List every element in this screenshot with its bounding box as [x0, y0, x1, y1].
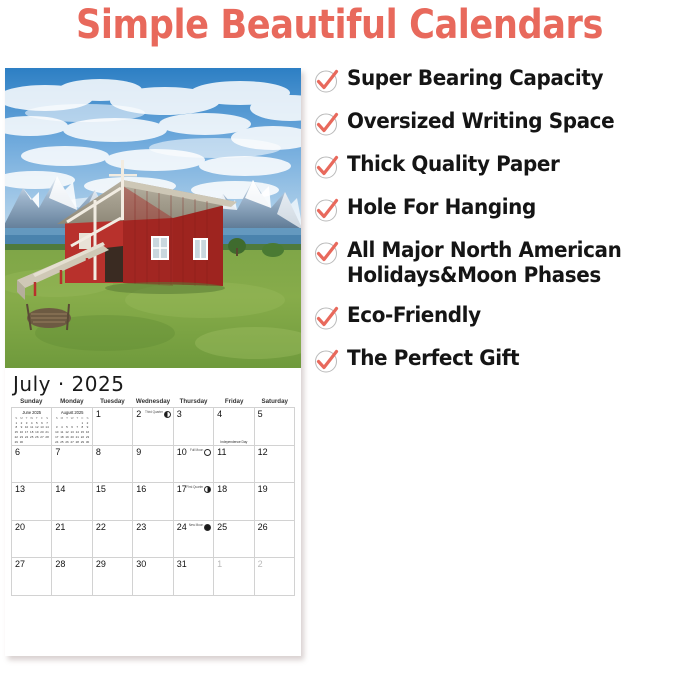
calendar-day-cell[interactable]: 19 [255, 483, 295, 521]
calendar-photo [5, 68, 301, 368]
mini-day: 26 [65, 440, 70, 444]
calendar-week-row: 1314151617First Quarter1819 [12, 483, 295, 521]
calendar-day-cell[interactable]: 29 [93, 558, 133, 596]
mini-day: 16 [19, 430, 24, 434]
feature-label: Hole For Hanging [347, 195, 536, 220]
mini-day: 7 [75, 425, 80, 429]
mini-day: 3 [24, 421, 29, 425]
calendar-week-row: 678910Full Moon1112 [12, 446, 295, 484]
mini-day: 14 [45, 425, 50, 429]
mini-day: 25 [29, 435, 34, 439]
calendar-day-cell[interactable]: 24New Moon [174, 521, 214, 559]
mini-day: 18 [29, 430, 34, 434]
mini-day: 13 [40, 425, 45, 429]
day-number: 3 [177, 409, 182, 419]
mini-day: 24 [24, 435, 29, 439]
day-number: 1 [217, 559, 222, 569]
mini-day: 29 [14, 440, 19, 444]
mini-day: 29 [80, 440, 85, 444]
feature-item: Super Bearing Capacity [313, 66, 679, 94]
day-number: 26 [258, 522, 268, 532]
check-circle-icon [313, 197, 339, 223]
mini-weekday: S [14, 416, 19, 420]
calendar-week-row: 272829303112 [12, 558, 295, 596]
mini-day: 30 [85, 440, 90, 444]
holiday-label: Independence Day [216, 440, 251, 444]
mini-day: 8 [80, 425, 85, 429]
mini-day: 15 [80, 430, 85, 434]
feature-item: Thick Quality Paper [313, 152, 679, 180]
calendar-day-cell[interactable]: 1 [93, 408, 133, 446]
feature-label: The Perfect Gift [347, 346, 519, 371]
mini-day: 23 [19, 435, 24, 439]
day-number: 20 [15, 522, 25, 532]
mini-day: 1 [80, 421, 85, 425]
mini-day: 4 [60, 425, 65, 429]
calendar-day-cell[interactable]: 30 [133, 558, 173, 596]
mini-day: 21 [45, 430, 50, 434]
day-number: 6 [15, 447, 20, 457]
calendar-day-cell[interactable]: 13 [12, 483, 52, 521]
mini-day: 8 [14, 425, 19, 429]
feature-label-line1: Thick Quality Paper [347, 152, 559, 176]
mini-day: 18 [60, 435, 65, 439]
feature-label-line1: Oversized Writing Space [347, 109, 614, 133]
mini-day: 10 [54, 430, 59, 434]
mini-day: 2 [19, 421, 24, 425]
mini-day: 19 [65, 435, 70, 439]
calendar-day-cell[interactable]: 18 [214, 483, 254, 521]
calendar-day-cell[interactable]: 12 [255, 446, 295, 484]
check-circle-icon [313, 154, 339, 180]
calendar-day-cell[interactable]: 28 [52, 558, 92, 596]
day-number: 8 [96, 447, 101, 457]
calendar-day-cell[interactable]: 10Full Moon [174, 446, 214, 484]
calendar-day-cell[interactable]: August 2025SMTWTFS0000012345678910111213… [52, 408, 92, 446]
day-number: 5 [258, 409, 263, 419]
calendar-day-cell[interactable]: 11 [214, 446, 254, 484]
day-number: 27 [15, 559, 25, 569]
mini-month-title: June 2025 [14, 410, 49, 415]
feature-item: Oversized Writing Space [313, 109, 679, 137]
day-number: 11 [217, 447, 226, 457]
day-number: 16 [136, 484, 146, 494]
calendar-sheet: July · 2025 Sunday Monday Tuesday Wednes… [5, 368, 301, 656]
day-number: 2 [136, 409, 141, 419]
mini-day: 2 [85, 421, 90, 425]
mini-day: 11 [29, 425, 34, 429]
mini-weekday: T [35, 416, 40, 420]
mini-day: 9 [19, 425, 24, 429]
mini-day: 27 [70, 440, 75, 444]
mini-day: 6 [70, 425, 75, 429]
calendar-day-cell[interactable]: 20 [12, 521, 52, 559]
calendar-day-cell[interactable]: 5 [255, 408, 295, 446]
feature-label-line2: Holidays&Moon Phases [347, 263, 621, 288]
mini-weekday: S [45, 416, 50, 420]
day-number: 7 [55, 447, 60, 457]
mini-day: 6 [40, 421, 45, 425]
calendar-day-cell[interactable]: 4Independence Day [214, 408, 254, 446]
moon-phase-icon [204, 524, 211, 531]
day-number: 17 [177, 484, 187, 494]
moon-phase-label: Full Moon [190, 448, 203, 452]
day-number: 15 [96, 484, 106, 494]
mini-month-title: August 2025 [54, 410, 89, 415]
calendar-day-cell[interactable]: 23 [133, 521, 173, 559]
calendar-day-cell[interactable]: 21 [52, 521, 92, 559]
mini-day: 22 [80, 435, 85, 439]
mini-day: 7 [45, 421, 50, 425]
mini-day: 20 [70, 435, 75, 439]
moon-phase-icon [164, 411, 171, 418]
calendar-day-cell[interactable]: 15 [93, 483, 133, 521]
mini-day: 28 [75, 440, 80, 444]
feature-label: Eco-Friendly [347, 303, 481, 328]
calendar-day-cell[interactable]: 26 [255, 521, 295, 559]
calendar-day-cell[interactable]: 2Third Quarter [133, 408, 173, 446]
mini-day: 30 [19, 440, 24, 444]
day-number: 10 [177, 447, 187, 457]
day-number: 28 [55, 559, 65, 569]
feature-item: The Perfect Gift [313, 346, 679, 374]
mini-day: 10 [24, 425, 29, 429]
mini-day: 26 [35, 435, 40, 439]
mini-day: 20 [40, 430, 45, 434]
day-number: 18 [217, 484, 227, 494]
calendar-day-cell[interactable]: June 2025SMTWTFS123456789101112131415161… [12, 408, 52, 446]
calendar-day-cell[interactable]: 22 [93, 521, 133, 559]
mini-day: 5 [65, 425, 70, 429]
moon-phase-label: First Quarter [187, 485, 204, 489]
check-circle-icon [313, 68, 339, 94]
mini-day: 27 [40, 435, 45, 439]
day-number: 2 [258, 559, 263, 569]
calendar-day-cell[interactable]: 2 [255, 558, 295, 596]
calendar-day-cell[interactable]: 6 [12, 446, 52, 484]
day-number: 21 [55, 522, 65, 532]
day-number: 24 [177, 522, 187, 532]
feature-label-line1: Eco-Friendly [347, 303, 481, 327]
mini-weekday: F [40, 416, 45, 420]
feature-label: Super Bearing Capacity [347, 66, 603, 91]
calendar-day-cell[interactable]: 3 [174, 408, 214, 446]
mini-weekday: F [80, 416, 85, 420]
feature-label-line1: Hole For Hanging [347, 195, 536, 219]
calendar-day-cell[interactable]: 1 [214, 558, 254, 596]
calendar-day-cell[interactable]: 16 [133, 483, 173, 521]
day-number: 1 [96, 409, 101, 419]
moon-phase-icon [204, 449, 211, 456]
feature-label-line1: All Major North American [347, 238, 621, 262]
mini-day: 11 [60, 430, 65, 434]
feature-label: Oversized Writing Space [347, 109, 614, 134]
day-number: 22 [96, 522, 106, 532]
weekday-header-row: Sunday Monday Tuesday Wednesday Thursday… [11, 398, 295, 407]
check-circle-icon [313, 305, 339, 331]
day-number: 19 [258, 484, 268, 494]
mini-weekday: S [54, 416, 59, 420]
mini-day: 1 [14, 421, 19, 425]
feature-label-line1: The Perfect Gift [347, 346, 519, 370]
mini-weekday: M [19, 416, 24, 420]
mini-day: 15 [14, 430, 19, 434]
mini-day: 21 [75, 435, 80, 439]
mini-day: 28 [45, 435, 50, 439]
mini-weekday: W [70, 416, 75, 420]
calendar-card: July · 2025 Sunday Monday Tuesday Wednes… [5, 68, 301, 656]
check-circle-icon [313, 111, 339, 137]
mini-day: 5 [35, 421, 40, 425]
mini-weekday: M [60, 416, 65, 420]
mini-day: 22 [14, 435, 19, 439]
feature-list: Super Bearing CapacityOversized Writing … [313, 66, 679, 389]
day-number: 30 [136, 559, 146, 569]
calendar-day-cell[interactable]: 9 [133, 446, 173, 484]
moon-phase-label: New Moon [189, 523, 203, 527]
feature-label: All Major North AmericanHolidays&Moon Ph… [347, 238, 621, 288]
weekday-header: Wednesday [133, 398, 174, 405]
mini-weekday: T [65, 416, 70, 420]
mini-day: 9 [85, 425, 90, 429]
day-number: 23 [136, 522, 146, 532]
feature-item: Eco-Friendly [313, 303, 679, 331]
mini-day: 24 [54, 440, 59, 444]
mini-day: 12 [35, 425, 40, 429]
feature-item: Hole For Hanging [313, 195, 679, 223]
calendar-grid: June 2025SMTWTFS123456789101112131415161… [11, 407, 295, 596]
mini-month: August 2025SMTWTFS0000012345678910111213… [54, 410, 89, 443]
calendar-day-cell[interactable]: 7 [52, 446, 92, 484]
calendar-week-row: June 2025SMTWTFS123456789101112131415161… [12, 408, 295, 446]
mini-day: 12 [65, 430, 70, 434]
mini-day: 23 [85, 435, 90, 439]
calendar-day-cell[interactable]: 14 [52, 483, 92, 521]
day-number: 29 [96, 559, 106, 569]
mini-day: 17 [24, 430, 29, 434]
mini-day: 3 [54, 425, 59, 429]
day-number: 4 [217, 409, 222, 419]
weekday-header: Saturday [254, 398, 295, 405]
weekday-header: Thursday [173, 398, 214, 405]
check-circle-icon [313, 240, 339, 266]
mini-day: 25 [60, 440, 65, 444]
page-title: Simple Beautiful Calendars [41, 2, 639, 48]
calendar-day-cell[interactable]: 27 [12, 558, 52, 596]
mini-day: 19 [35, 430, 40, 434]
moon-phase-label: Third Quarter [145, 410, 163, 414]
mini-weekday: T [75, 416, 80, 420]
mini-month-grid: SMTWTFS123456789101112131415161718192021… [14, 416, 49, 444]
day-number: 14 [55, 484, 65, 494]
moon-phase-icon [204, 486, 211, 493]
calendar-day-cell[interactable]: 8 [93, 446, 133, 484]
weekday-header: Monday [52, 398, 93, 405]
mini-day: 13 [70, 430, 75, 434]
feature-label-line1: Super Bearing Capacity [347, 66, 603, 90]
mini-month-grid: SMTWTFS000001234567891011121314151617181… [54, 416, 89, 446]
weekday-header: Friday [214, 398, 255, 405]
day-number: 31 [177, 559, 187, 569]
weekday-header: Tuesday [92, 398, 133, 405]
day-number: 12 [258, 447, 268, 457]
feature-item: All Major North AmericanHolidays&Moon Ph… [313, 238, 679, 288]
calendar-day-cell[interactable]: 17First Quarter [174, 483, 214, 521]
calendar-day-cell[interactable]: 31 [174, 558, 214, 596]
mini-day: 14 [75, 430, 80, 434]
weekday-header: Sunday [11, 398, 52, 405]
barn-landscape-illustration [5, 68, 301, 368]
mini-day: 17 [54, 435, 59, 439]
check-circle-icon [313, 348, 339, 374]
calendar-month-title: July · 2025 [11, 368, 295, 398]
feature-label: Thick Quality Paper [347, 152, 559, 177]
calendar-day-cell[interactable]: 25 [214, 521, 254, 559]
mini-weekday: T [24, 416, 29, 420]
mini-day: 16 [85, 430, 90, 434]
mini-month: June 2025SMTWTFS123456789101112131415161… [14, 410, 49, 443]
mini-weekday: S [85, 416, 90, 420]
calendar-week-row: 2021222324New Moon2526 [12, 521, 295, 559]
mini-weekday: W [29, 416, 34, 420]
day-number: 13 [15, 484, 25, 494]
day-number: 9 [136, 447, 141, 457]
mini-day: 4 [29, 421, 34, 425]
day-number: 25 [217, 522, 227, 532]
